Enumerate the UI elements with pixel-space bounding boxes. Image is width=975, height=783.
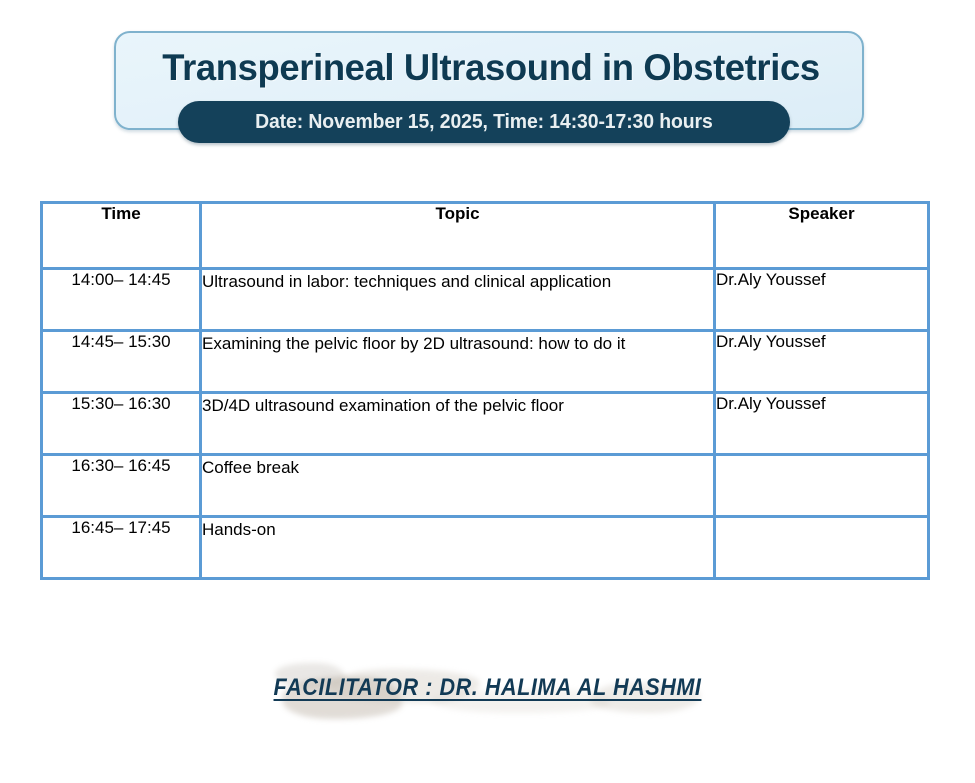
column-header-topic: Topic: [201, 203, 715, 269]
cell-topic: Coffee break: [201, 455, 715, 517]
table-row: 16:45– 17:45 Hands-on: [42, 517, 929, 579]
cell-topic: Hands-on: [201, 517, 715, 579]
cell-topic: 3D/4D ultrasound examination of the pelv…: [201, 393, 715, 455]
cell-speaker: [715, 455, 929, 517]
table-row: 14:45– 15:30 Examining the pelvic floor …: [42, 331, 929, 393]
cell-time: 14:45– 15:30: [42, 331, 201, 393]
header-banner: Transperineal Ultrasound in Obstetrics D…: [0, 0, 975, 165]
cell-time: 14:00– 14:45: [42, 269, 201, 331]
cell-time: 16:30– 16:45: [42, 455, 201, 517]
cell-time: 16:45– 17:45: [42, 517, 201, 579]
cell-topic: Ultrasound in labor: techniques and clin…: [201, 269, 715, 331]
cell-speaker: Dr.Aly Youssef: [715, 269, 929, 331]
column-header-time: Time: [42, 203, 201, 269]
table-header-row: Time Topic Speaker: [42, 203, 929, 269]
table-row: 14:00– 14:45 Ultrasound in labor: techni…: [42, 269, 929, 331]
facilitator-footer: FACILITATOR : DR. HALIMA AL HASHMI: [0, 655, 975, 735]
facilitator-label: FACILITATOR : DR. HALIMA AL HASHMI: [49, 674, 927, 702]
cell-time: 15:30– 16:30: [42, 393, 201, 455]
table-row: 16:30– 16:45 Coffee break: [42, 455, 929, 517]
cell-speaker: Dr.Aly Youssef: [715, 393, 929, 455]
agenda-table: Time Topic Speaker 14:00– 14:45 Ultrasou…: [40, 201, 930, 580]
cell-speaker: Dr.Aly Youssef: [715, 331, 929, 393]
table-row: 15:30– 16:30 3D/4D ultrasound examinatio…: [42, 393, 929, 455]
cell-speaker: [715, 517, 929, 579]
date-time-pill: Date: November 15, 2025, Time: 14:30-17:…: [178, 101, 790, 143]
cell-topic: Examining the pelvic floor by 2D ultraso…: [201, 331, 715, 393]
date-time-label: Date: November 15, 2025, Time: 14:30-17:…: [255, 111, 713, 134]
column-header-speaker: Speaker: [715, 203, 929, 269]
